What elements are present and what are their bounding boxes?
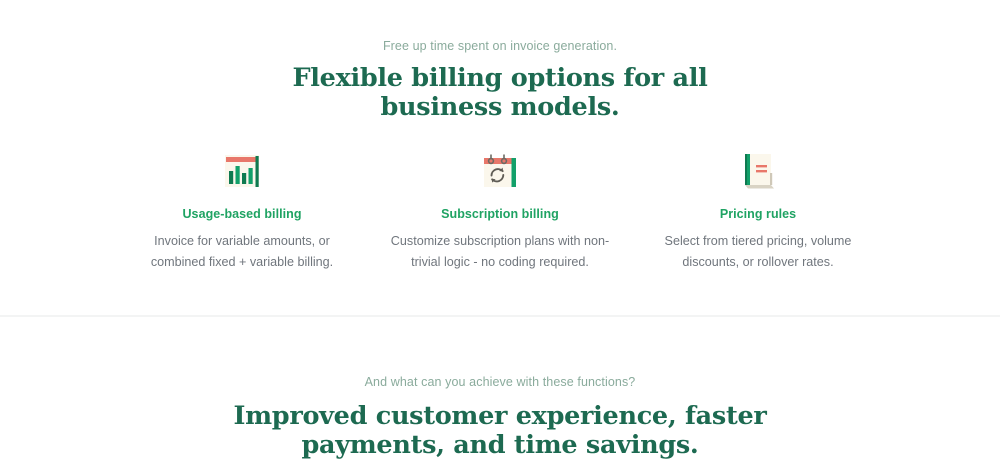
outcome-headline-line1: Improved customer experience, faster <box>233 401 766 431</box>
features-eyebrow: Free up time spent on invoice generation… <box>0 37 1000 55</box>
feature-title: Pricing rules <box>641 206 875 222</box>
features-headline-line2: business models. <box>381 92 620 122</box>
feature-usage-based-billing: Usage-based billing Invoice for variable… <box>113 149 371 273</box>
outcome-headline: Improved customer experience, faster pay… <box>0 402 1000 460</box>
feature-description-line1: Customize subscription plans with non- <box>391 234 609 248</box>
outcome-headline-line2: payments, and time savings. <box>301 430 698 460</box>
feature-description-line2: trivial logic - no coding required. <box>411 255 589 269</box>
feature-description: Customize subscription plans with non- t… <box>383 231 617 273</box>
calendar-refresh-icon <box>383 149 617 193</box>
feature-title: Subscription billing <box>383 206 617 222</box>
bar-chart-icon <box>125 149 359 193</box>
features-headline-line1: Flexible billing options for all <box>292 63 707 93</box>
feature-description-line2: discounts, or rollover rates. <box>682 255 833 269</box>
outcome-section: And what can you achieve with these func… <box>0 373 1000 460</box>
features-section: Free up time spent on invoice generation… <box>0 0 1000 273</box>
book-icon <box>641 149 875 193</box>
landing-page-section: Free up time spent on invoice generation… <box>0 0 1000 466</box>
feature-columns: Usage-based billing Invoice for variable… <box>0 149 1000 273</box>
features-headline: Flexible billing options for all busines… <box>0 64 1000 122</box>
outcome-eyebrow: And what can you achieve with these func… <box>0 373 1000 391</box>
feature-description: Select from tiered pricing, volume disco… <box>641 231 875 273</box>
feature-pricing-rules: Pricing rules Select from tiered pricing… <box>629 149 887 273</box>
feature-subscription-billing: Subscription billing Customize subscript… <box>371 149 629 273</box>
feature-title: Usage-based billing <box>125 206 359 222</box>
feature-description-line2: combined fixed + variable billing. <box>151 255 333 269</box>
feature-description-line1: Select from tiered pricing, volume <box>665 234 852 248</box>
feature-description: Invoice for variable amounts, or combine… <box>125 231 359 273</box>
feature-description-line1: Invoice for variable amounts, or <box>154 234 330 248</box>
section-divider <box>0 315 1000 317</box>
